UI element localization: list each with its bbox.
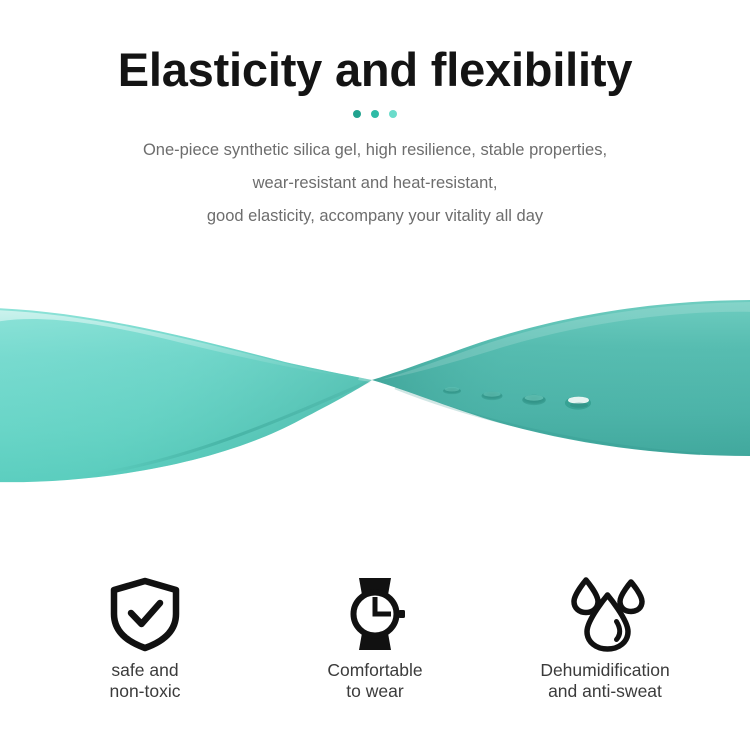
dot-separator xyxy=(0,110,750,119)
shield-check-icon xyxy=(108,575,182,653)
product-image xyxy=(0,270,750,520)
feature-label-line-1: Dehumidification xyxy=(540,660,669,681)
wristwatch-icon xyxy=(335,575,415,653)
band-hole-5 xyxy=(565,396,591,409)
feature-label-line-2: non-toxic xyxy=(109,681,180,702)
dot-3-icon xyxy=(389,110,397,118)
header: Elasticity and flexibility One-piece syn… xyxy=(0,0,750,233)
feature-dehumidification-label: Dehumidification and anti-sweat xyxy=(540,660,669,702)
subtitle-line-2: wear-resistant and heat-resistant, xyxy=(0,167,750,200)
page-title: Elasticity and flexibility xyxy=(0,0,750,97)
feature-dehumidification: Dehumidification and anti-sweat xyxy=(490,575,720,702)
subtitle-line-1: One-piece synthetic silica gel, high res… xyxy=(0,134,750,167)
feature-label-line-2: to wear xyxy=(327,681,422,702)
band-left-half xyxy=(0,308,372,482)
subtitle: One-piece synthetic silica gel, high res… xyxy=(0,119,750,233)
band-right-half xyxy=(372,300,750,456)
feature-list: safe and non-toxic Comfortable to wear xyxy=(0,575,750,702)
feature-safe-non-toxic: safe and non-toxic xyxy=(30,575,260,702)
water-drops-icon xyxy=(561,575,649,653)
feature-label-line-2: and anti-sweat xyxy=(540,681,669,702)
feature-label-line-1: safe and xyxy=(109,660,180,681)
feature-comfortable-to-wear: Comfortable to wear xyxy=(260,575,490,702)
feature-safe-non-toxic-label: safe and non-toxic xyxy=(109,660,180,702)
feature-comfortable-to-wear-label: Comfortable to wear xyxy=(327,660,422,702)
feature-label-line-1: Comfortable xyxy=(327,660,422,681)
dot-2-icon xyxy=(371,110,379,118)
subtitle-line-3: good elasticity, accompany your vitality… xyxy=(0,200,750,233)
dot-1-icon xyxy=(353,110,361,118)
